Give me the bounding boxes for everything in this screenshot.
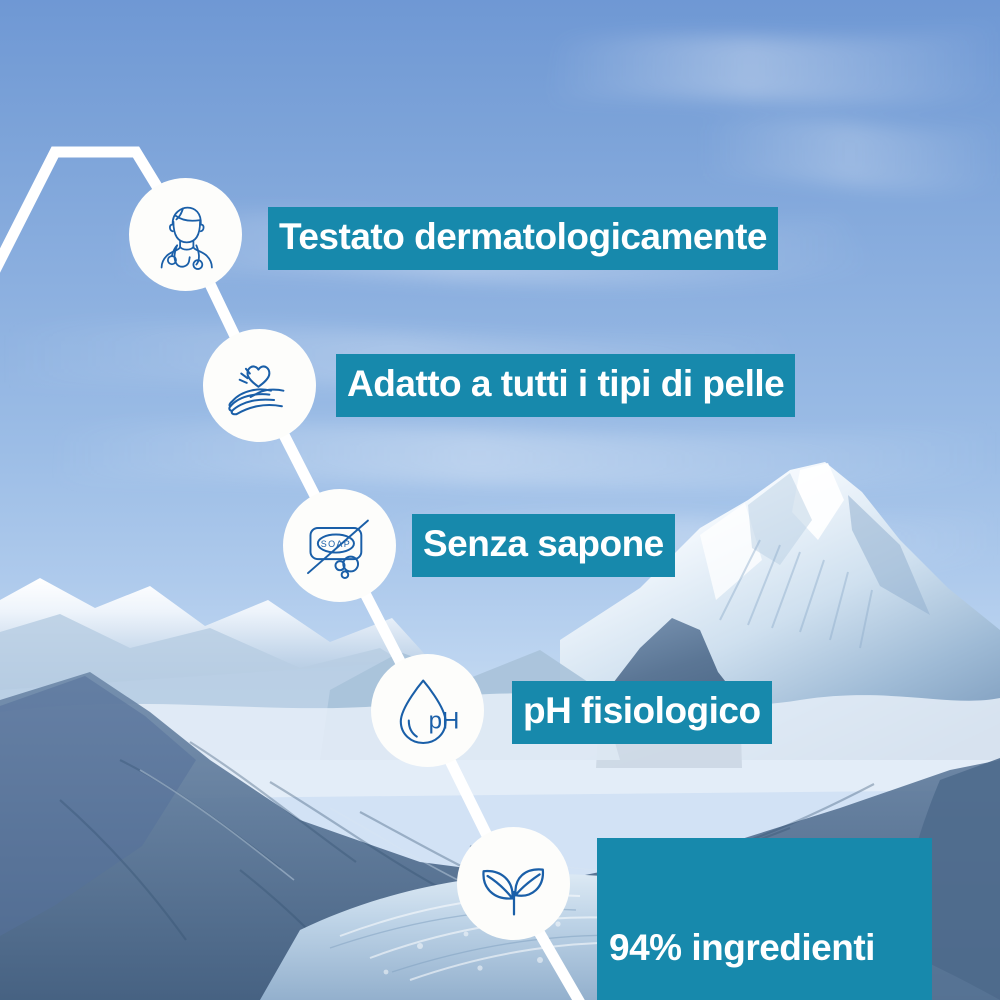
benefit-icon-bubble-soap-free[interactable]: SOAP [283, 489, 396, 602]
benefit-label-all-skin-types: Adatto a tutti i tipi di pelle [336, 354, 795, 417]
infographic-canvas: SOAP pH [0, 0, 1000, 1000]
benefit-label-line-1: 94% ingredienti [609, 927, 920, 968]
benefit-label-text: Adatto a tutti i tipi di pelle [347, 363, 784, 405]
benefit-label-physiological-ph: pH fisiologico [512, 681, 772, 744]
hand-heart-icon [221, 347, 299, 425]
benefit-icon-bubble-dermatologically-tested[interactable] [129, 178, 242, 291]
benefit-label-text: pH fisiologico [523, 690, 761, 732]
no-soap-icon: SOAP [299, 505, 381, 587]
ph-droplet-icon: pH [388, 671, 468, 751]
benefit-icon-bubble-physiological-ph[interactable]: pH [371, 654, 484, 767]
benefit-icon-bubble-all-skin-types[interactable] [203, 329, 316, 442]
benefit-label-natural-ingredients: 94% ingredienti di origine naturale [597, 838, 932, 1000]
benefit-icon-bubble-natural-ingredients[interactable] [457, 827, 570, 940]
leaves-icon [474, 844, 554, 924]
benefit-label-text: Senza sapone [423, 523, 664, 565]
benefit-label-soap-free: Senza sapone [412, 514, 675, 577]
benefit-label-dermatologically-tested: Testato dermatologicamente [268, 207, 778, 270]
doctor-stethoscope-icon [149, 198, 223, 272]
ph-text: pH [428, 707, 459, 734]
benefit-label-text: Testato dermatologicamente [279, 216, 767, 258]
